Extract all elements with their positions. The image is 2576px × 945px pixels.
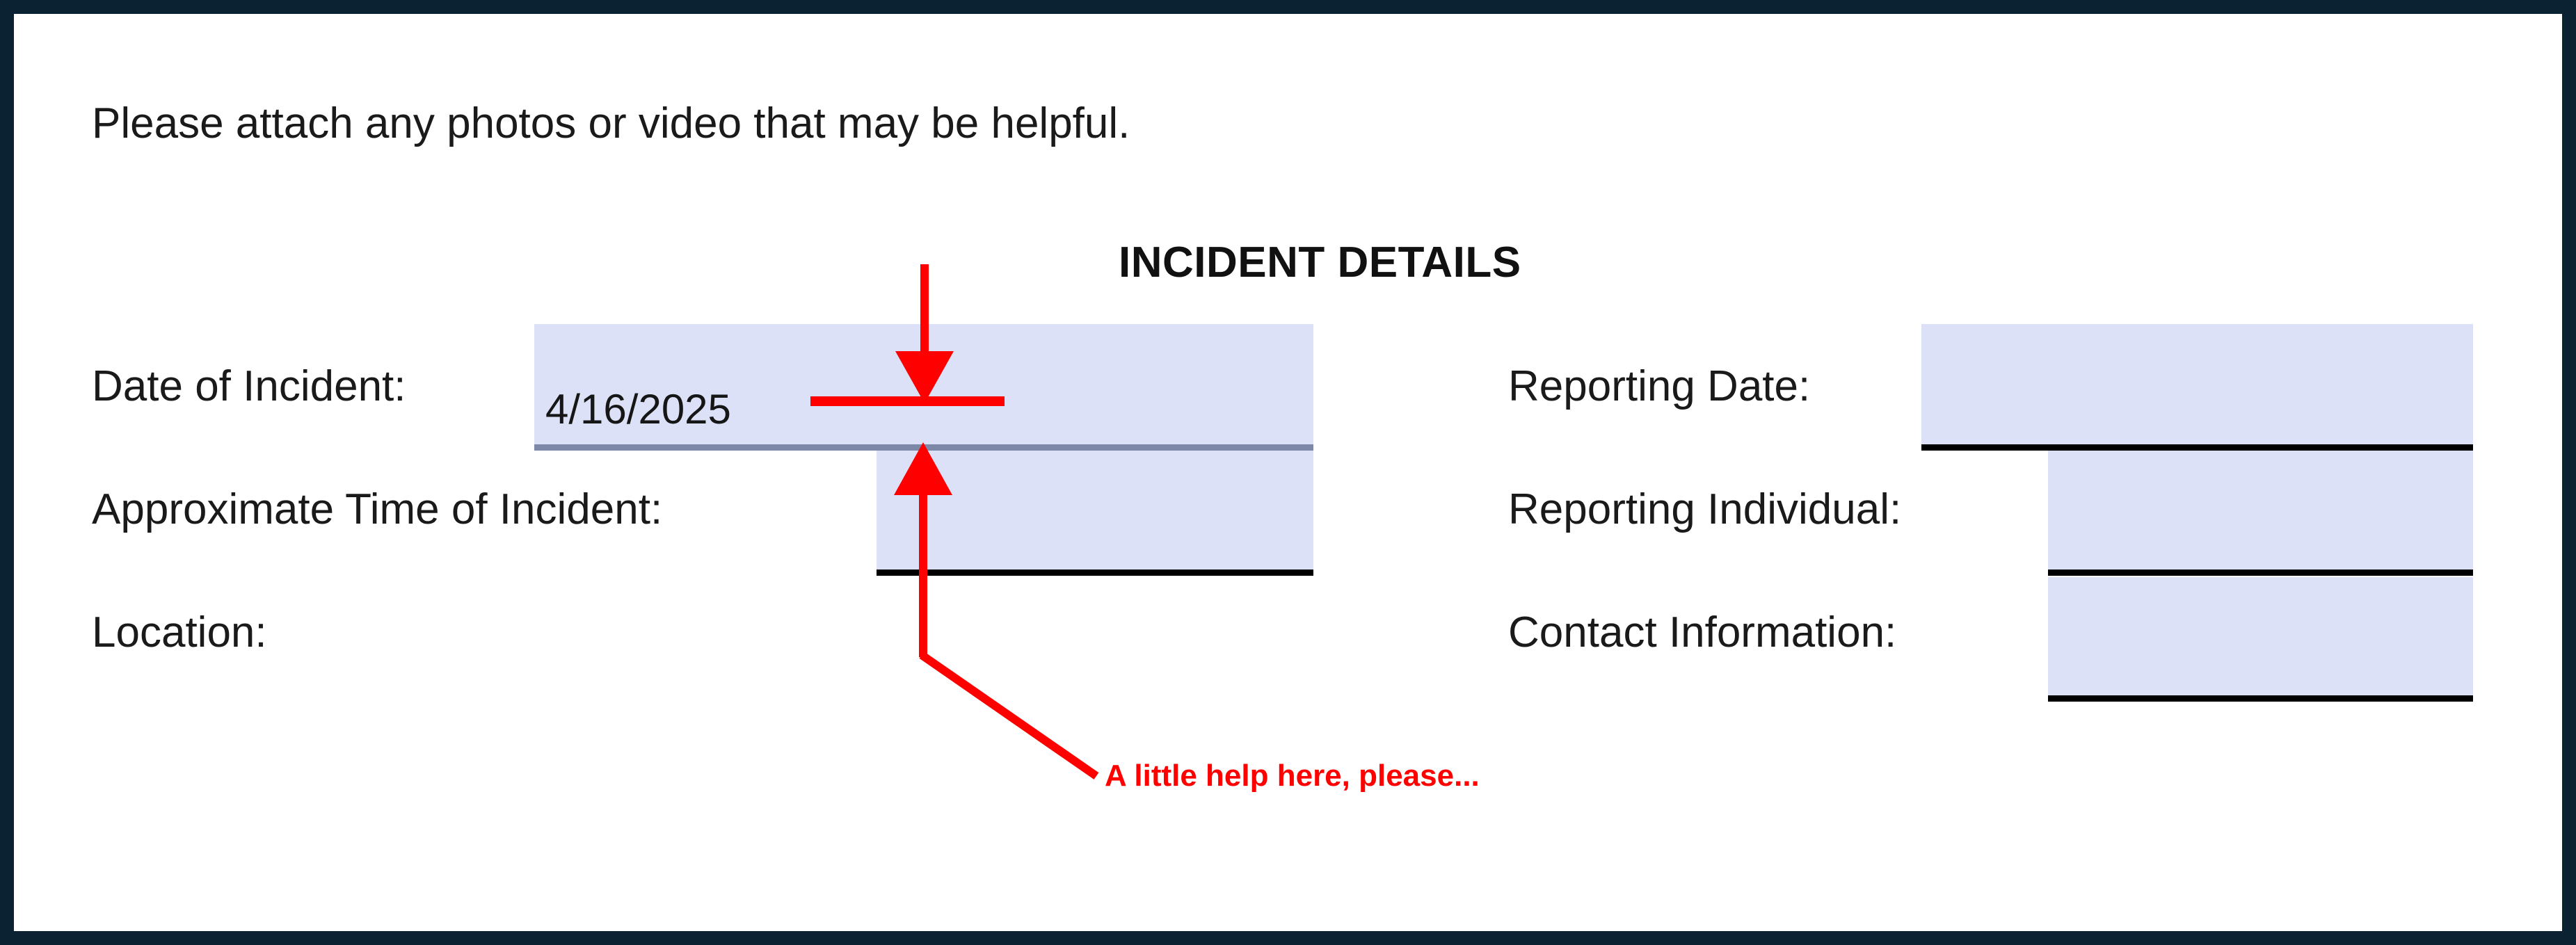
label-contact-information: Contact Information:	[1508, 608, 1896, 657]
input-contact-information[interactable]	[2048, 577, 2473, 702]
section-heading-incident-details: INCIDENT DETAILS	[1119, 238, 1521, 287]
input-reporting-date[interactable]	[1921, 324, 2473, 451]
annotation-callout-text: A little help here, please...	[1105, 759, 1480, 793]
form-canvas: Please attach any photos or video that m…	[14, 14, 2562, 931]
label-reporting-individual: Reporting Individual:	[1508, 485, 1901, 534]
callout-leader-line	[922, 655, 1096, 776]
label-location: Location:	[92, 608, 267, 657]
label-reporting-date: Reporting Date:	[1508, 362, 1810, 411]
input-approximate-time-of-incident[interactable]	[877, 451, 1313, 576]
label-date-of-incident: Date of Incident:	[92, 362, 406, 411]
value-date-of-incident: 4/16/2025	[545, 385, 731, 433]
label-approximate-time-of-incident: Approximate Time of Incident:	[92, 485, 662, 534]
incident-report-page: Please attach any photos or video that m…	[0, 0, 2576, 945]
input-date-of-incident[interactable]: 4/16/2025	[534, 324, 1313, 451]
input-reporting-individual[interactable]	[2048, 451, 2473, 576]
attachments-instruction-text: Please attach any photos or video that m…	[92, 99, 1130, 148]
